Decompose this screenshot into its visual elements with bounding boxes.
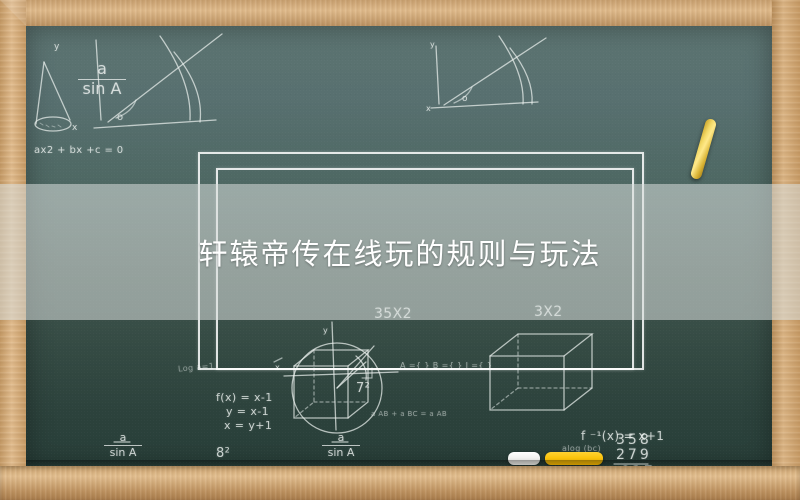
frame-miter-corner: [0, 0, 26, 26]
fraction-numerator: a: [104, 432, 142, 444]
chalkboard-banner: y x o a sin A ax2 + bx +c = 0 y x o f(x)…: [0, 0, 800, 500]
chalk-fraction-a-over-sinA-topleft: a sin A: [78, 61, 126, 98]
fraction-numerator: a: [322, 432, 360, 444]
frame-top-rail: [0, 0, 800, 26]
fraction-denominator: sin A: [104, 447, 142, 459]
angle-diagram-right: [431, 36, 546, 108]
page-title: 轩辕帝传在线玩的规则与玩法: [0, 184, 800, 320]
chalk-fraction-a-over-sinA-left: a sin A: [104, 432, 142, 458]
fraction-numerator: a: [78, 61, 126, 78]
cone-icon: [35, 62, 71, 131]
fraction-denominator: sin A: [78, 81, 126, 98]
chalk-fraction-a-over-sinA-mid: a sin A: [322, 432, 360, 458]
ledge-shadow: [26, 460, 772, 466]
frame-bottom-ledge: [0, 466, 800, 500]
fraction-denominator: sin A: [322, 447, 360, 459]
